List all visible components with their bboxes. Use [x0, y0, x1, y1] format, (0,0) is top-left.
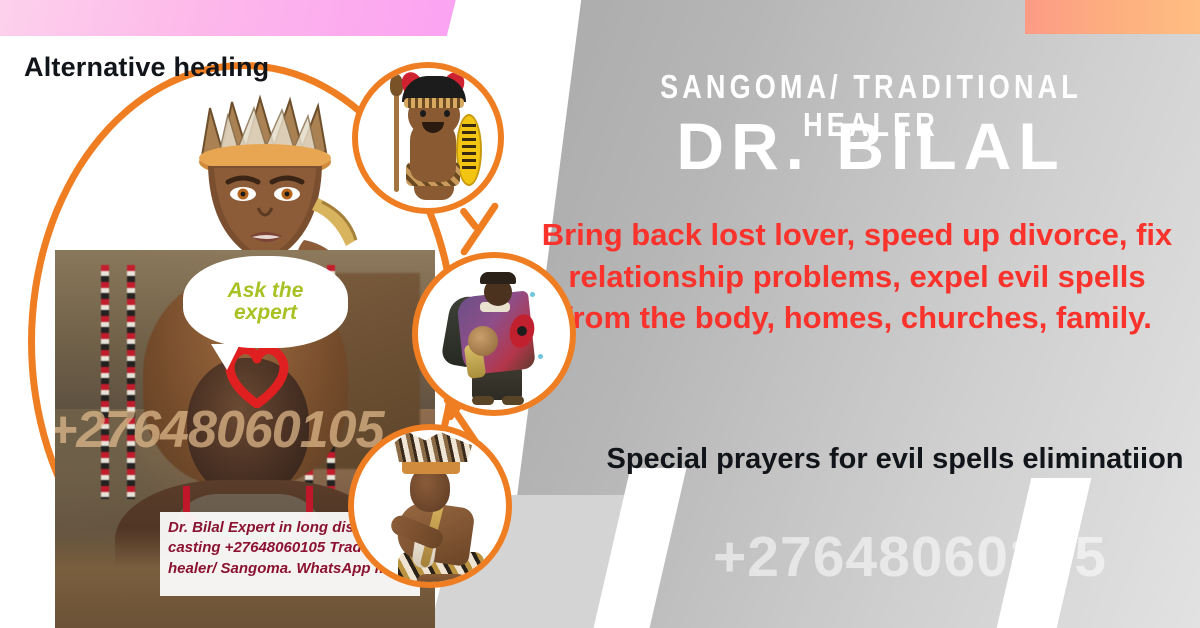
zulu-warrior-cartoon-icon — [358, 68, 498, 208]
prayers-text: Special prayers for evil spells eliminat… — [600, 440, 1190, 478]
top-orange-bar — [1025, 0, 1200, 34]
speech-bubble: Ask the expert — [183, 256, 348, 348]
poster-canvas: Alternative healing — [0, 0, 1200, 628]
ghost-phone-number: +27648060105 — [620, 524, 1200, 590]
page-title: Alternative healing — [24, 52, 269, 83]
icon-circle-healer[interactable] — [412, 252, 576, 416]
crouching-warrior-icon — [354, 430, 506, 582]
icon-circle-warrior[interactable] — [352, 62, 504, 214]
top-pink-bar — [0, 0, 470, 36]
bead-strand — [127, 265, 135, 499]
services-text: Bring back lost lover, speed up divorce,… — [532, 214, 1182, 339]
bead-strand — [101, 265, 109, 499]
speech-bubble-label: Ask the expert — [211, 280, 321, 324]
cloaked-healer-icon — [418, 258, 570, 410]
brand-name: DR. BILAL — [566, 108, 1176, 184]
icon-circle-crouching-warrior[interactable] — [348, 424, 512, 588]
circle-connector-1-elbow — [459, 207, 481, 232]
top-white-slash — [445, 0, 526, 42]
